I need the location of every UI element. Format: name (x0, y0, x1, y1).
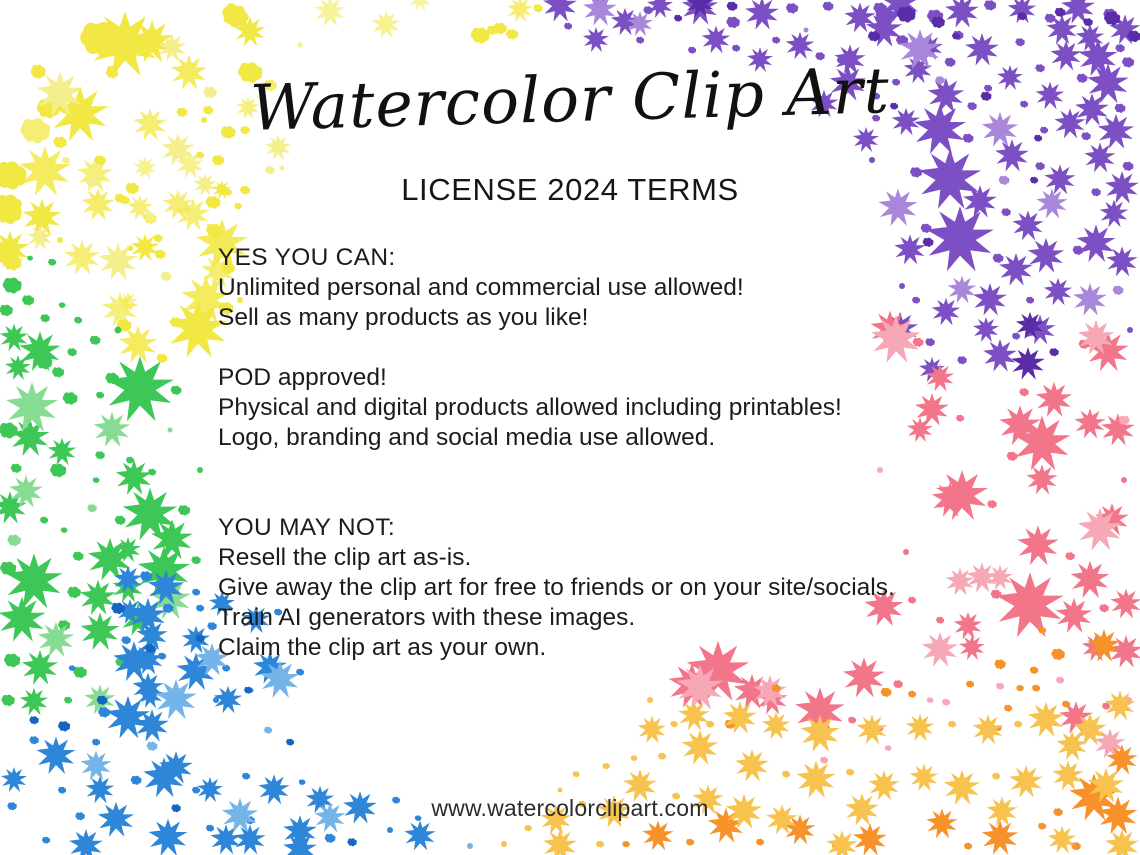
license-terms-card: Watercolor Clip Art LICENSE 2024 TERMS Y… (0, 0, 1140, 855)
terms-body: YES YOU CAN: Unlimited personal and comm… (218, 243, 978, 663)
terms-section-allowed: YES YOU CAN: Unlimited personal and comm… (218, 243, 978, 333)
license-content: Watercolor Clip Art LICENSE 2024 TERMS Y… (0, 0, 1140, 855)
spacer-pod-prohibited (218, 453, 978, 513)
prohibited-line-3: Train AI generators with these images. (218, 603, 978, 633)
pod-line-2: Logo, branding and social media use allo… (218, 423, 978, 453)
allowed-line-2: Sell as many products as you like! (218, 303, 978, 333)
pod-heading: POD approved! (218, 363, 978, 393)
page-title-script: Watercolor Clip Art (0, 52, 1140, 147)
spacer-allowed-pod (218, 333, 978, 363)
pod-line-1: Physical and digital products allowed in… (218, 393, 978, 423)
prohibited-line-2: Give away the clip art for free to frien… (218, 573, 978, 603)
prohibited-heading: YOU MAY NOT: (218, 513, 978, 543)
prohibited-line-4: Claim the clip art as your own. (218, 633, 978, 663)
allowed-heading: YES YOU CAN: (218, 243, 978, 273)
website-url: www.watercolorclipart.com (0, 795, 1140, 822)
terms-section-prohibited: YOU MAY NOT: Resell the clip art as-is. … (218, 513, 978, 663)
page-subtitle: LICENSE 2024 TERMS (0, 172, 1140, 208)
prohibited-line-1: Resell the clip art as-is. (218, 543, 978, 573)
allowed-line-1: Unlimited personal and commercial use al… (218, 273, 978, 303)
terms-section-pod: POD approved! Physical and digital produ… (218, 363, 978, 453)
